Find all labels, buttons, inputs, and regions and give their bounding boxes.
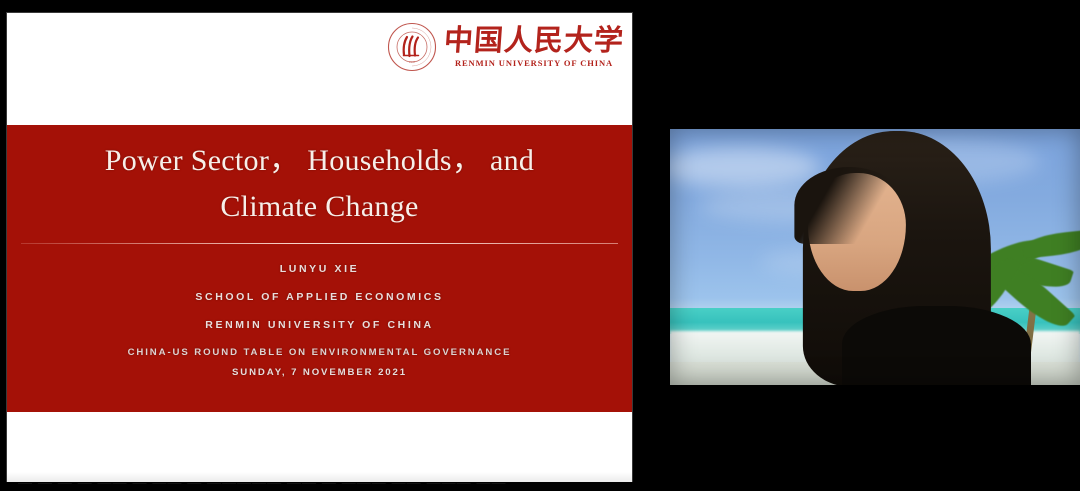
presenter-school: SCHOOL OF APPLIED ECONOMICS: [7, 291, 632, 303]
meeting-stage: 1937 中国人民大学 RENMIN UNIVERSITY OF CHINA P…: [0, 0, 1080, 491]
university-logo: 1937 中国人民大学 RENMIN UNIVERSITY OF CHINA: [387, 22, 624, 72]
title-divider: [21, 243, 618, 244]
logo-english-name: RENMIN UNIVERSITY OF CHINA: [455, 59, 613, 68]
presenter-university: RENMIN UNIVERSITY OF CHINA: [7, 319, 632, 331]
caption-text: — — — — —— — —— — ————— —— — ——— —— ——— …: [18, 482, 506, 490]
title-line-2: Climate Change: [7, 184, 632, 230]
cut-off-caption-strip: — — — — —— — —— — ————— —— — ——— —— ——— …: [0, 482, 1080, 491]
page-title: Power Sector， Households， and Climate Ch…: [7, 138, 632, 229]
slide-header-band: 1937 中国人民大学 RENMIN UNIVERSITY OF CHINA: [7, 13, 632, 125]
presentation-date: SUNDAY, 7 NOVEMBER 2021: [7, 367, 632, 378]
speaker-video-tile[interactable]: [670, 129, 1080, 385]
slide-footer-band: [7, 412, 632, 482]
slide-metadata: LUNYU XIE SCHOOL OF APPLIED ECONOMICS RE…: [7, 263, 632, 378]
conference-name: CHINA-US ROUND TABLE ON ENVIRONMENTAL GO…: [7, 347, 632, 358]
logo-chinese-name: 中国人民大学: [443, 27, 625, 56]
shared-screen-slide[interactable]: 1937 中国人民大学 RENMIN UNIVERSITY OF CHINA P…: [7, 13, 632, 482]
svg-text:1937: 1937: [409, 60, 416, 64]
slide-title-band: Power Sector， Households， and Climate Ch…: [7, 125, 632, 412]
renmin-university-seal-icon: 1937: [387, 22, 437, 72]
video-vignette: [670, 129, 1080, 385]
title-line-1: Power Sector， Households， and: [7, 138, 632, 184]
presenter-name: LUNYU XIE: [7, 263, 632, 275]
